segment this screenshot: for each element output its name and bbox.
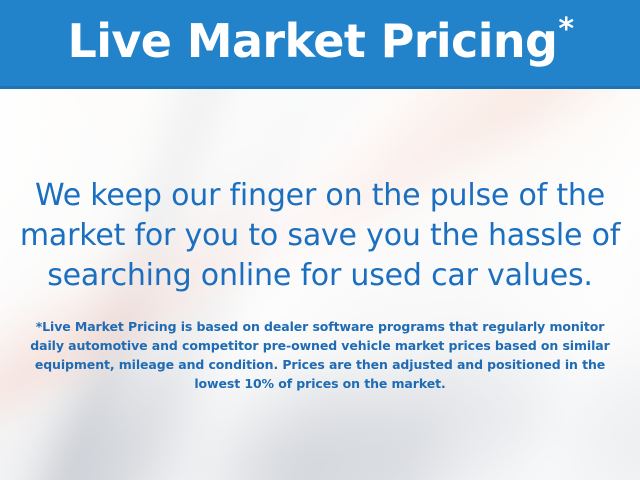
headline-line: We keep our finger on the pulse of the (0, 176, 640, 216)
header-band: Live Market Pricing* (0, 0, 640, 89)
disclaimer-line: *Live Market Pricing is based on dealer … (20, 317, 620, 336)
disclaimer-line: equipment, mileage and condition. Prices… (20, 355, 620, 374)
page-title: Live Market Pricing* (68, 18, 573, 64)
disclaimer-line: daily automotive and competitor pre-owne… (20, 336, 620, 355)
live-market-pricing-slide: Live Market Pricing* We keep our finger … (0, 0, 640, 480)
headline-block: We keep our finger on the pulse of the m… (0, 176, 640, 296)
page-title-asterisk: * (558, 12, 573, 47)
disclaimer-line: lowest 10% of prices on the market. (20, 374, 620, 393)
headline-line: searching online for used car values. (0, 256, 640, 296)
disclaimer-block: *Live Market Pricing is based on dealer … (20, 317, 620, 393)
page-title-text: Live Market Pricing (68, 14, 558, 68)
headline-line: market for you to save you the hassle of (0, 216, 640, 256)
